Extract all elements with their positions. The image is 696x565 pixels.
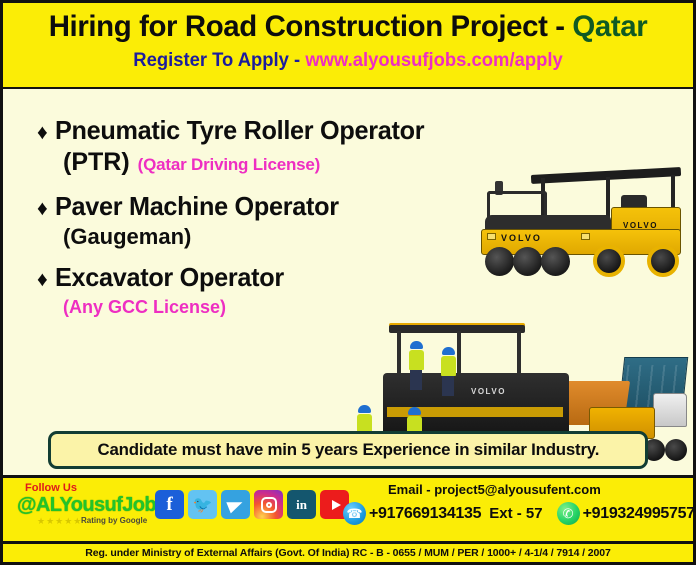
whatsapp-icon: ✆ [557,502,580,525]
safety-helmet-icon [408,407,421,415]
job-item-paver: ♦ Paver Machine Operator (Gaugeman) [37,191,457,250]
paper-plane-glyph [226,496,244,513]
worker-legs [442,376,454,396]
job-license-note: (Qatar Driving License) [138,155,320,175]
job-role-detail: (Gaugeman) [63,224,457,250]
paver-post [457,331,461,377]
facebook-icon[interactable]: f [155,490,184,519]
phone-contact-row: ☎ +917669134135 Ext - 57 ✆ +919324995757 [343,502,695,525]
social-handle: @ALYousufJobs [17,494,167,517]
job-advertisement-poster: Hiring for Road Construction Project - Q… [0,0,696,565]
roller-lamp [581,233,590,240]
paver-post [517,331,521,375]
phone-number-whatsapp[interactable]: +919324995757 [583,505,695,523]
truck-wheel [665,439,687,461]
page-title-main: Hiring for Road Construction Project - [49,10,573,43]
registration-strip: Reg. under Ministry of External Affairs … [3,541,693,562]
register-subtitle: Register To Apply - www.alyousufjobs.com… [13,50,682,72]
roller-brand-label-side: VOLVO [623,221,658,230]
paver-post [397,331,401,377]
register-label: Register To Apply - [133,50,305,71]
poster-body: ♦ Pneumatic Tyre Roller Operator (PTR) (… [3,89,693,475]
apply-url-link[interactable]: www.alyousufjobs.com/apply [305,50,562,71]
email-contact[interactable]: Email - project5@alyousufent.com [388,482,601,497]
registration-text: Reg. under Ministry of External Affairs … [85,547,611,559]
page-title: Hiring for Road Construction Project - Q… [10,10,686,44]
phone-icon: ☎ [343,502,366,525]
dump-truck-cab [653,393,687,427]
camera-lens-glyph [266,502,272,508]
job-subtitle-row: (PTR) (Qatar Driving License) [63,148,457,177]
linkedin-icon[interactable]: in [287,490,316,519]
job-title-row: ♦ Paver Machine Operator [37,191,457,222]
job-title: Pneumatic Tyre Roller Operator [55,115,424,146]
job-list: ♦ Pneumatic Tyre Roller Operator (PTR) (… [37,115,457,322]
poster-footer: Follow Us @ALYousufJobs ★★★★★ Rating by … [3,475,693,562]
safety-helmet-icon [442,347,455,355]
job-title-row: ♦ Excavator Operator [37,262,457,293]
job-item-ptr: ♦ Pneumatic Tyre Roller Operator (PTR) (… [37,115,457,177]
social-links: f 🐦 in [155,490,349,519]
rating-source-label: Rating by Google [81,516,147,525]
roller-handrail [487,191,547,217]
roller-brand-label: VOLVO [501,233,542,243]
roller-tyre [541,247,570,276]
roller-post [606,177,610,219]
job-title: Excavator Operator [55,262,284,293]
worker-legs [410,370,422,390]
phone-extension: Ext - 57 [489,505,542,522]
telegram-icon[interactable] [221,490,250,519]
paver-brand-label: VOLVO [471,387,506,396]
hi-vis-vest [409,350,424,370]
rating-stars-icon: ★★★★★ [37,516,82,527]
diamond-bullet-icon: ♦ [37,122,48,143]
camera-glyph [261,497,277,513]
experience-requirement-box: Candidate must have min 5 years Experien… [48,431,648,469]
roller-wheel [647,245,679,277]
pneumatic-tyre-roller-image: VOLVO VOLVO [471,171,686,276]
diamond-bullet-icon: ♦ [37,198,48,219]
construction-worker [439,347,457,396]
safety-helmet-icon [358,405,371,413]
job-title: Paver Machine Operator [55,191,339,222]
construction-worker [407,341,425,390]
roller-tyre [485,247,514,276]
job-item-excavator: ♦ Excavator Operator (Any GCC License) [37,262,457,318]
job-title-row: ♦ Pneumatic Tyre Roller Operator [37,115,457,146]
poster-header: Hiring for Road Construction Project - Q… [3,3,693,89]
safety-helmet-icon [410,341,423,349]
play-glyph [332,500,341,510]
page-title-country: Qatar [572,10,647,43]
roller-tyre [513,247,542,276]
roller-wheel [593,245,625,277]
roller-lamp [487,233,496,240]
job-license-note: (Any GCC License) [63,297,457,318]
hi-vis-vest [441,356,456,376]
experience-requirement-text: Candidate must have min 5 years Experien… [97,440,599,460]
phone-number-primary[interactable]: +917669134135 [369,505,481,523]
twitter-icon[interactable]: 🐦 [188,490,217,519]
follow-us-label: Follow Us [25,482,77,494]
job-code: (PTR) [63,148,130,177]
diamond-bullet-icon: ♦ [37,269,48,290]
instagram-icon[interactable] [254,490,283,519]
